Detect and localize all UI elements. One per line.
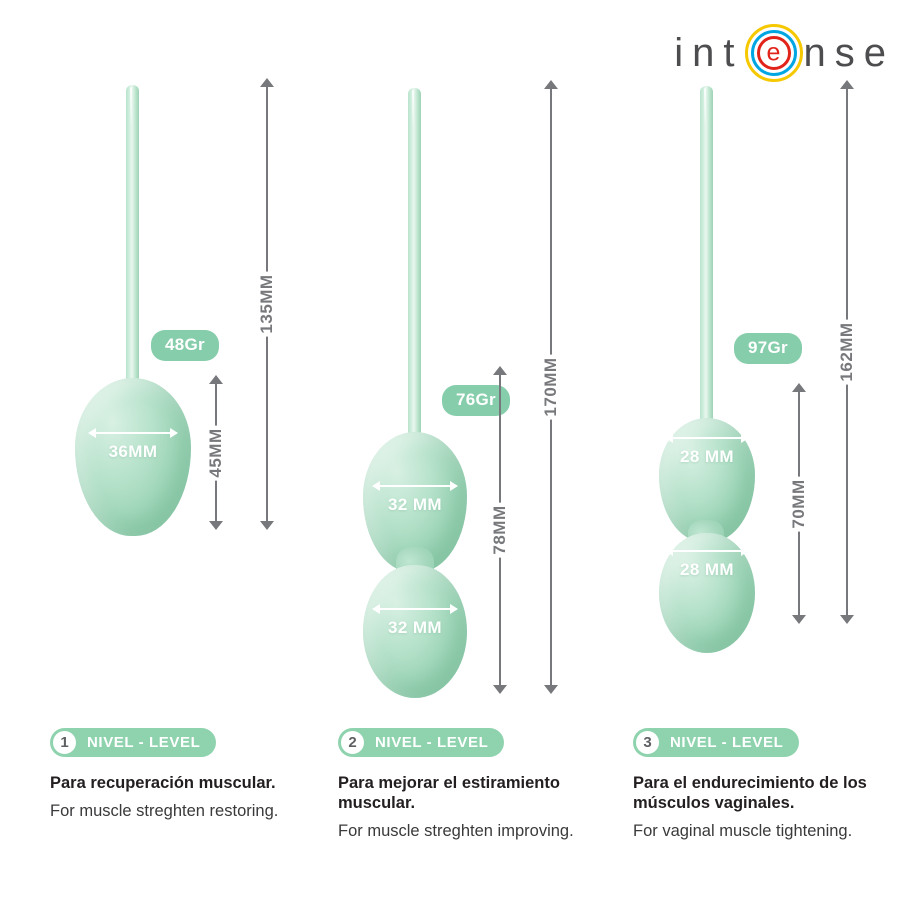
- level-2-badge: 2 NIVEL - LEVEL: [338, 728, 504, 757]
- product-3-width-dim-2: 28 MM: [665, 545, 749, 580]
- level-3-description-es: Para el endurecimiento de los músculos v…: [633, 773, 898, 813]
- level-card-2: 2 NIVEL - LEVEL Para mejorar el estirami…: [338, 728, 603, 841]
- measure-arrow-down: [493, 685, 507, 694]
- inner-length-label: 45MM: [200, 425, 232, 480]
- measure-arrow-down: [260, 521, 274, 530]
- level-3-description-en: For vaginal muscle tightening.: [633, 821, 898, 841]
- level-badge-label: NIVEL - LEVEL: [670, 734, 783, 751]
- product-3-width-dim-1: 28 MM: [665, 432, 749, 467]
- product-3-cord: [700, 86, 713, 429]
- concentric-rings-icon: e: [745, 24, 803, 82]
- product-2-inner-length-measure: 78MM: [489, 366, 511, 694]
- level-card-3: 3 NIVEL - LEVEL Para el endurecimiento d…: [633, 728, 898, 841]
- width-arrow-icon: [665, 545, 749, 557]
- brand-logo: int e nse: [655, 18, 895, 88]
- arrow-line: [672, 437, 742, 439]
- measure-arrow-down: [544, 685, 558, 694]
- width-arrow-icon: [88, 427, 178, 439]
- inner-length-label: 70MM: [783, 476, 815, 531]
- arrow-line: [379, 608, 451, 610]
- level-card-1: 1 NIVEL - LEVEL Para recuperación muscul…: [50, 728, 315, 821]
- level-2-description-es: Para mejorar el estiramiento muscular.: [338, 773, 603, 813]
- brand-name-suffix: nse: [804, 33, 896, 73]
- level-number: 1: [52, 730, 77, 755]
- product-3-weight-badge: 97Gr: [734, 333, 802, 364]
- level-badge-label: NIVEL - LEVEL: [375, 734, 488, 751]
- product-1-cord: [126, 85, 139, 395]
- level-number: 3: [635, 730, 660, 755]
- infographic-canvas: int e nse 36MM 48Gr 45MM: [0, 0, 900, 900]
- product-1-inner-length-measure: 45MM: [205, 375, 227, 530]
- product-3-total-length-measure: 162MM: [836, 80, 858, 624]
- product-2-total-length-measure: 170MM: [540, 80, 562, 694]
- logo-letter-e: e: [767, 41, 781, 66]
- level-3-badge: 3 NIVEL - LEVEL: [633, 728, 799, 757]
- width-label: 28 MM: [665, 447, 749, 467]
- arrow-head-right: [170, 428, 178, 438]
- product-1-total-length-measure: 135MM: [256, 78, 278, 530]
- level-1-description-en: For muscle streghten restoring.: [50, 801, 315, 821]
- width-arrow-icon: [665, 432, 749, 444]
- inner-length-label: 78MM: [484, 502, 516, 557]
- width-label: 36MM: [88, 442, 178, 462]
- product-2-cord: [408, 88, 421, 448]
- arrow-line: [379, 485, 451, 487]
- width-arrow-icon: [372, 603, 458, 615]
- width-arrow-icon: [372, 480, 458, 492]
- product-2-width-dim-1: 32 MM: [372, 480, 458, 515]
- width-label: 32 MM: [372, 495, 458, 515]
- measure-arrow-down: [792, 615, 806, 624]
- total-length-label: 162MM: [831, 319, 863, 384]
- measure-arrow-down: [209, 521, 223, 530]
- level-2-description-en: For muscle streghten improving.: [338, 821, 603, 841]
- product-3-inner-length-measure: 70MM: [788, 383, 810, 624]
- arrow-line: [672, 550, 742, 552]
- arrow-head-right: [450, 604, 458, 614]
- arrow-line: [95, 432, 171, 434]
- total-length-label: 135MM: [251, 271, 283, 336]
- product-1-width-dim-1: 36MM: [88, 427, 178, 462]
- arrow-head-right: [741, 546, 749, 556]
- width-label: 28 MM: [665, 560, 749, 580]
- product-2-width-dim-2: 32 MM: [372, 603, 458, 638]
- arrow-head-right: [450, 481, 458, 491]
- measure-arrow-down: [840, 615, 854, 624]
- arrow-head-right: [741, 433, 749, 443]
- width-label: 32 MM: [372, 618, 458, 638]
- level-badge-label: NIVEL - LEVEL: [87, 734, 200, 751]
- level-1-description-es: Para recuperación muscular.: [50, 773, 315, 793]
- level-1-badge: 1 NIVEL - LEVEL: [50, 728, 216, 757]
- product-1-weight-badge: 48Gr: [151, 330, 219, 361]
- level-number: 2: [340, 730, 365, 755]
- brand-name-prefix: int: [674, 33, 743, 73]
- total-length-label: 170MM: [535, 354, 567, 419]
